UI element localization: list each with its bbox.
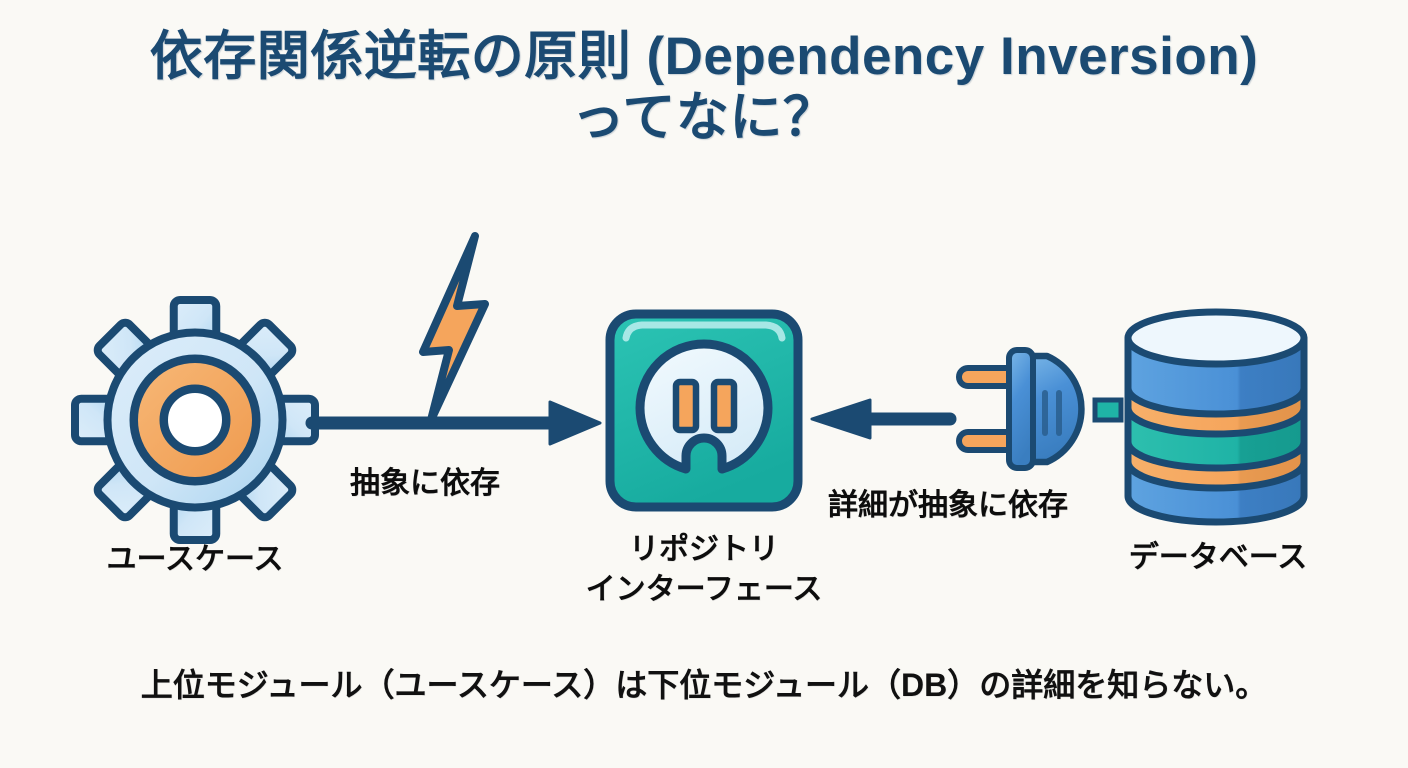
node-database-label: データベース <box>1088 538 1348 578</box>
node-repository-interface-label-line-2: インターフェース <box>534 570 874 610</box>
dependency-arrow-right <box>300 398 610 448</box>
page-title-line-1: 依存関係逆転の原則 (Dependency Inversion) <box>0 26 1408 87</box>
power-outlet-icon <box>604 308 804 513</box>
page-title: 依存関係逆転の原則 (Dependency Inversion) ってなに？ <box>0 26 1408 149</box>
dependency-arrow-left <box>808 398 958 442</box>
node-usecase-label: ユースケース <box>65 540 325 580</box>
slide-canvas: 依存関係逆転の原則 (Dependency Inversion) ってなに？ <box>0 0 1408 768</box>
node-repository-interface-label: リポジトリ インターフェース <box>534 530 874 609</box>
gear-icon <box>70 295 320 545</box>
caption-text: 上位モジュール（ユースケース）は下位モジュール（DB）の詳細を知らない。 <box>0 660 1408 706</box>
plug-icon <box>955 340 1115 490</box>
page-title-line-2: ってなに？ <box>0 87 1408 148</box>
node-repository-interface-label-line-1: リポジトリ <box>534 530 874 570</box>
node-usecase[interactable]: ユースケース <box>70 295 320 545</box>
node-repository-interface[interactable]: リポジトリ インターフェース <box>604 308 804 513</box>
database-cylinder-icon <box>1118 300 1318 530</box>
node-database[interactable]: データベース <box>1118 300 1318 530</box>
plug-connector <box>955 340 1115 490</box>
connector-label-abstraction: 抽象に依存 <box>350 458 500 502</box>
